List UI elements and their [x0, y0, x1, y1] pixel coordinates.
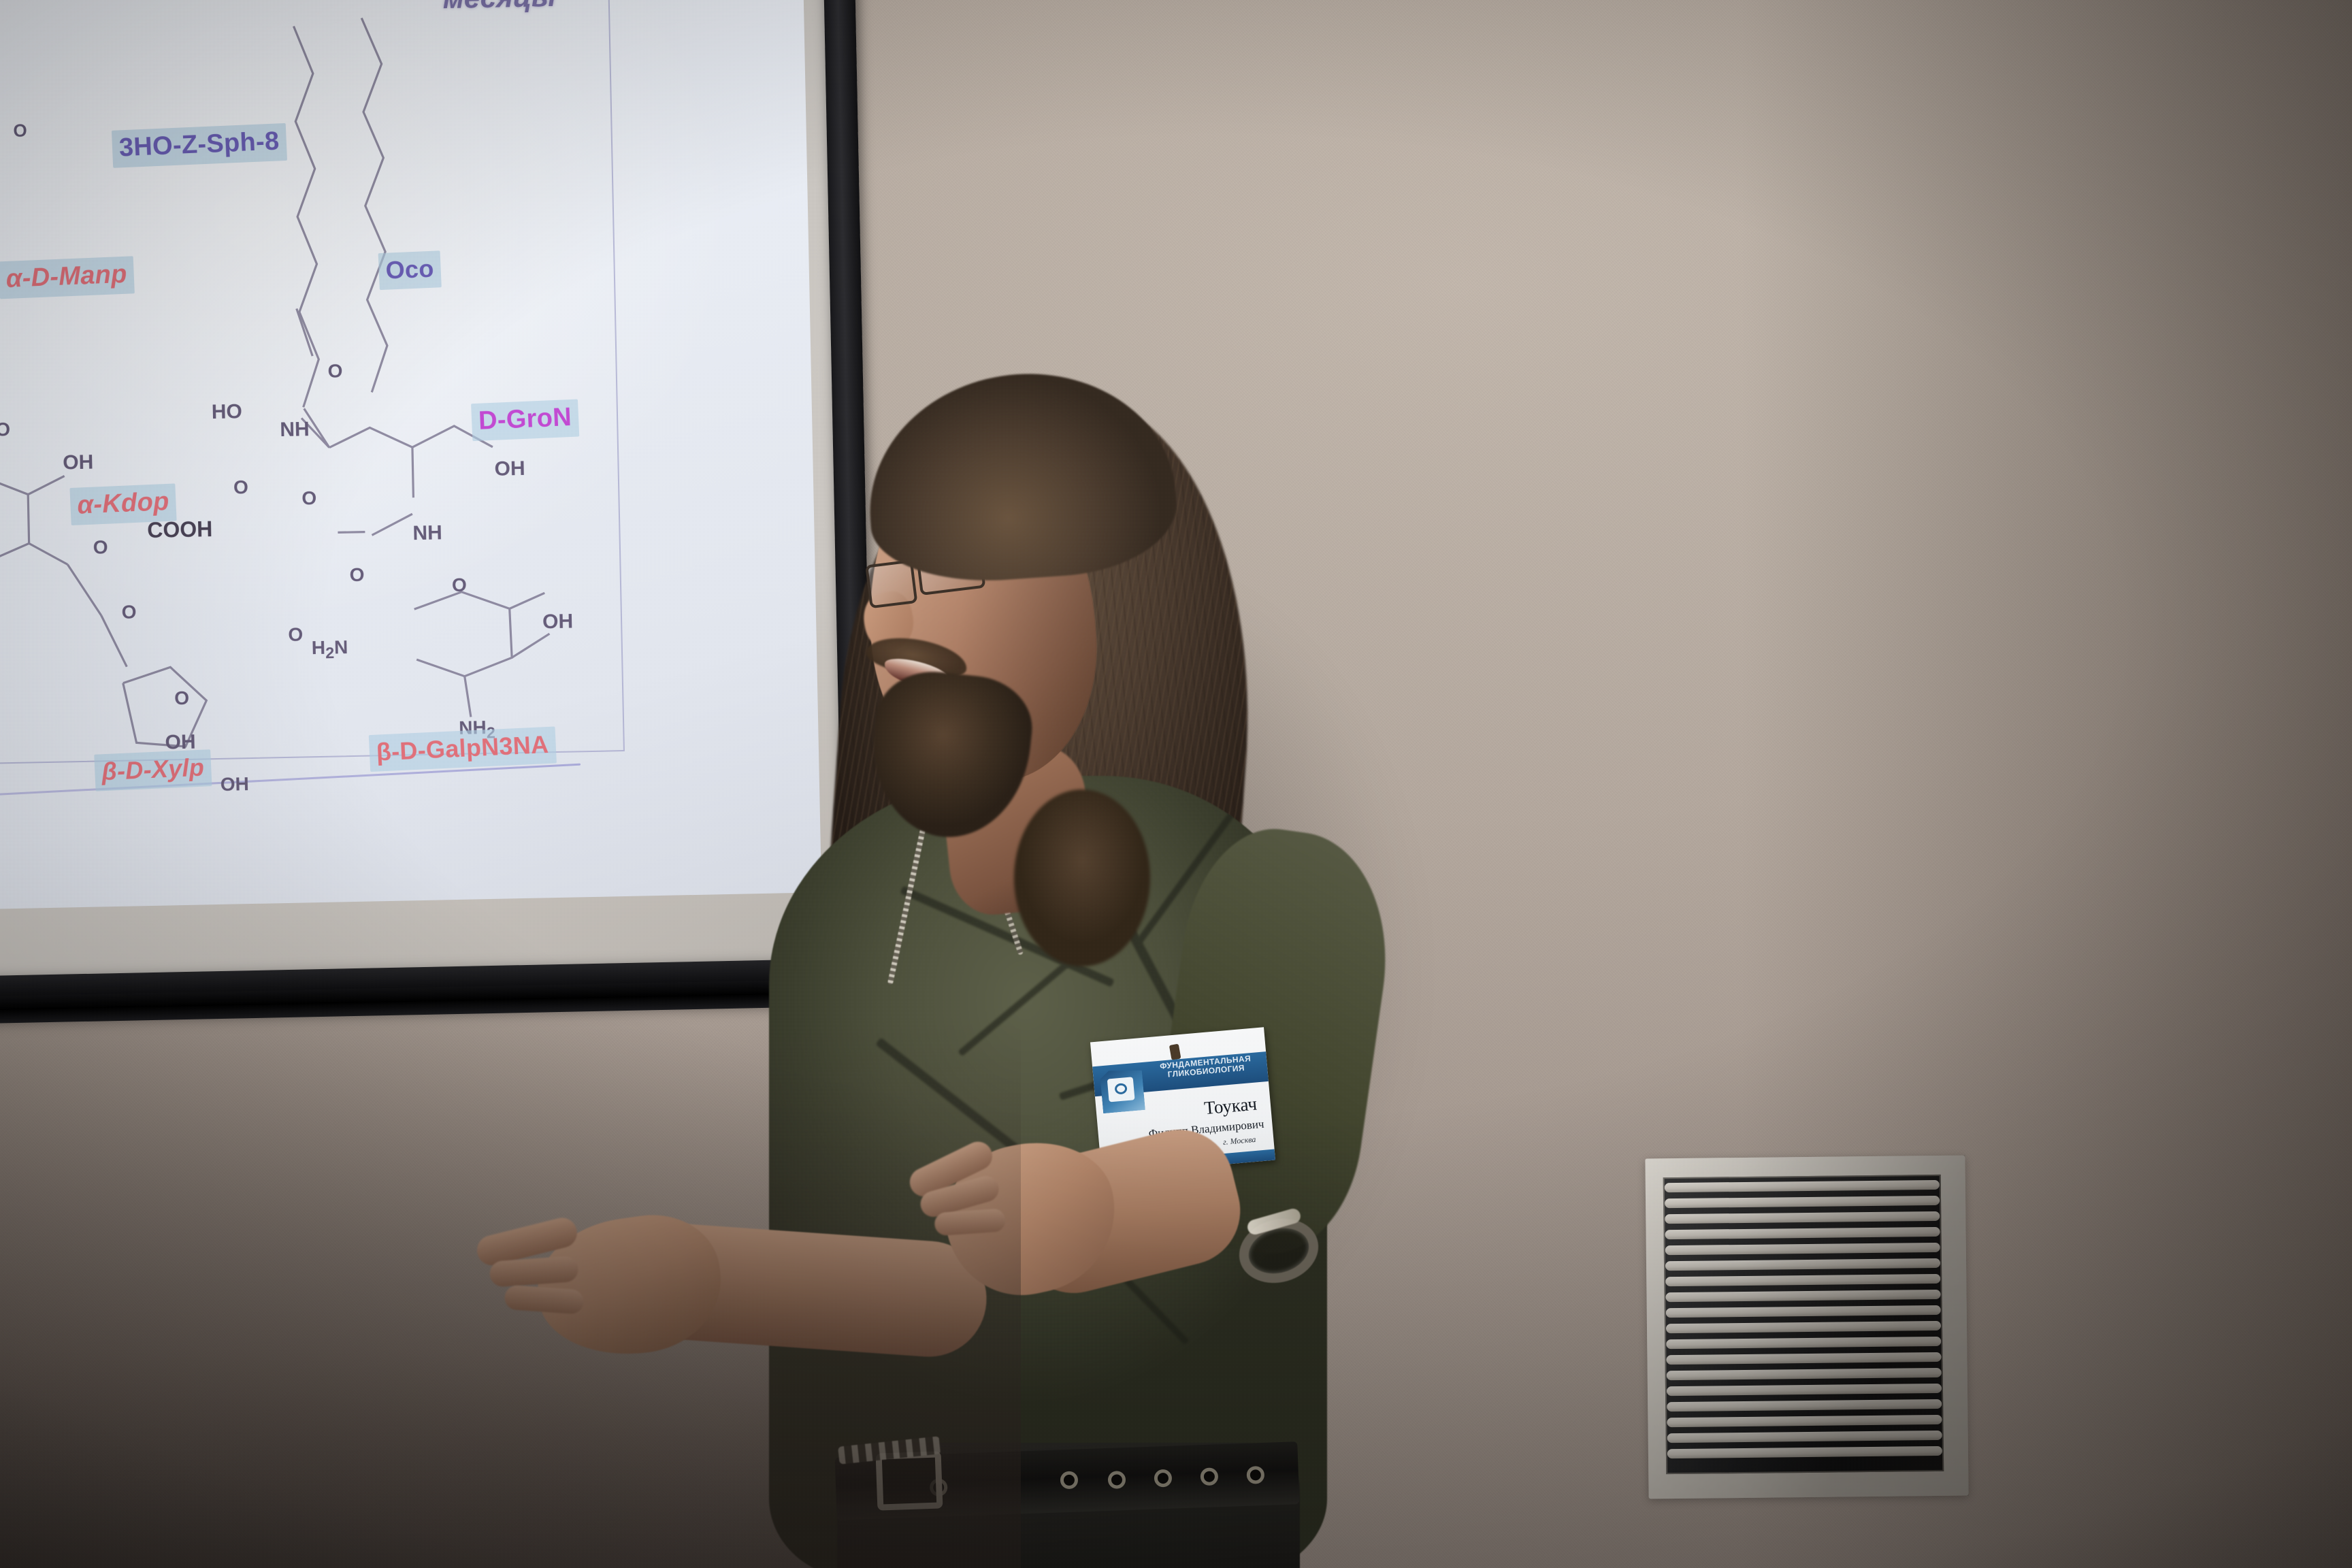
photo-vignette — [0, 0, 2352, 1568]
photo-scene: 5 мг месяцы — [0, 0, 2352, 1568]
